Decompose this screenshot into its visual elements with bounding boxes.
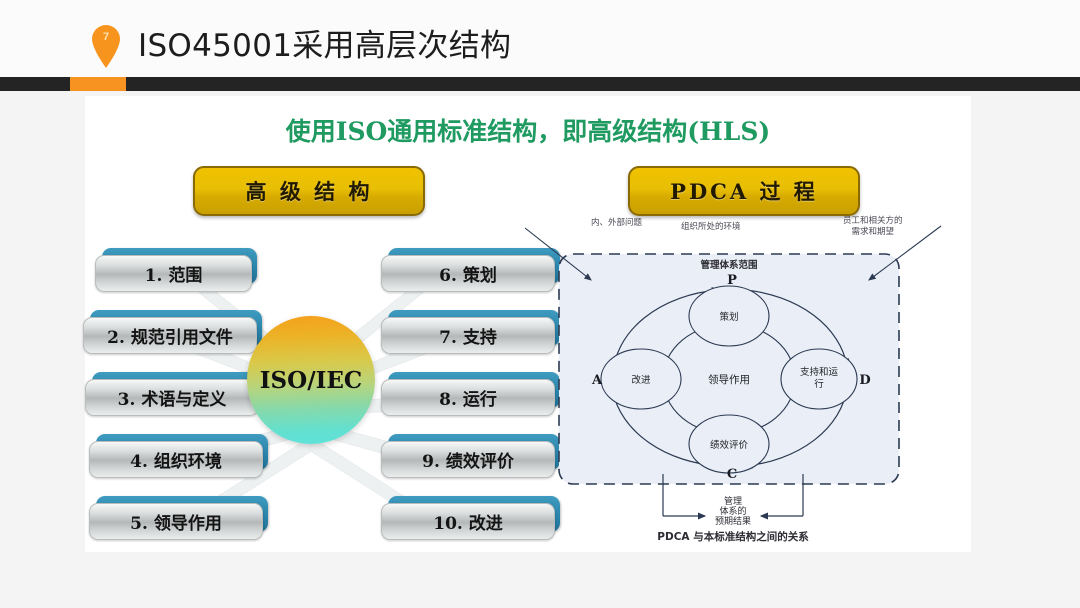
node-do-text-2: 行 — [814, 378, 824, 390]
clause-box-3[interactable]: 3. 术语与定义 — [85, 372, 265, 414]
banner-pdca-label: PDCA 过 程 — [670, 176, 818, 206]
slide-number-label: 7 — [88, 31, 124, 43]
letter-p-text: P — [727, 273, 737, 288]
clause-label: 7. 支持 — [439, 323, 497, 348]
annotation-worker-expectations: 员工和相关方的 需求和期望 — [843, 216, 903, 237]
annotation-organization-context: 组织所处的环境 — [681, 222, 741, 233]
clause-label: 6. 策划 — [439, 261, 497, 286]
banner-hls-label: 高 级 结 构 — [246, 176, 373, 206]
clause-box-front: 2. 规范引用文件 — [83, 317, 257, 354]
header-dark-bar — [0, 77, 1080, 91]
clause-box-1[interactable]: 1. 范围 — [95, 248, 255, 290]
outcome-line3-text: 预期结果 — [715, 515, 751, 527]
outcome-line2-text: 体系的 — [719, 505, 746, 517]
pdca-caption: PDCA 与本标准结构之间的关系 — [513, 529, 953, 544]
clause-box-front: 3. 术语与定义 — [85, 379, 259, 416]
content-panel: 使用ISO通用标准结构，即高级结构(HLS) 高 级 结 构 PDCA 过 程 — [85, 96, 971, 552]
node-act-text: 改进 — [631, 374, 651, 386]
annotation-worker-line2: 需求和期望 — [843, 227, 903, 238]
clause-box-front: 4. 组织环境 — [89, 441, 263, 478]
clause-box-5[interactable]: 5. 领导作用 — [89, 496, 269, 538]
iso-iec-label: ISO/IEC — [260, 367, 362, 394]
node-plan-text: 策划 — [719, 311, 738, 323]
node-check-text: 绩效评价 — [710, 439, 749, 451]
clause-label: 4. 组织环境 — [130, 447, 222, 472]
header-orange-segment — [70, 77, 126, 91]
clause-box-4[interactable]: 4. 组织环境 — [89, 434, 269, 476]
clause-label: 3. 术语与定义 — [118, 385, 227, 410]
slide-header: 7 ISO45001采用高层次结构 — [0, 0, 1080, 77]
banner-pdca-process: PDCA 过 程 — [628, 166, 860, 216]
map-pin-icon — [88, 22, 124, 68]
clause-box-front: 1. 范围 — [95, 255, 252, 292]
annotation-internal-external-issues: 内、外部问题 — [591, 218, 642, 229]
iso-iec-hub: ISO/IEC — [247, 316, 375, 444]
slide-number-pin: 7 — [88, 22, 124, 68]
letter-c-text: C — [727, 467, 737, 482]
page-title: ISO45001采用高层次结构 — [138, 20, 511, 65]
annotation-worker-line1: 员工和相关方的 — [843, 216, 903, 227]
node-leadership-text: 领导作用 — [708, 373, 750, 386]
clause-label: 2. 规范引用文件 — [107, 323, 233, 348]
clause-box-2[interactable]: 2. 规范引用文件 — [83, 310, 263, 352]
slide-root: 7 ISO45001采用高层次结构 使用ISO通用标准结构，即高级结构(HLS)… — [0, 0, 1080, 608]
scope-label-text: 管理体系范围 — [700, 259, 757, 271]
pdca-diagram: 内、外部问题 组织所处的环境 员工和相关方的 需求和期望 管理体系范围 — [513, 216, 953, 546]
clause-label: 8. 运行 — [439, 385, 497, 410]
clause-label: 1. 范围 — [145, 261, 203, 286]
letter-a-text: A — [591, 373, 603, 388]
pdca-svg: 管理体系范围 策划 支持和运 行 绩效评价 改进 领导作用 — [513, 216, 953, 546]
banner-high-level-structure: 高 级 结 构 — [193, 166, 425, 216]
outcome-line1-text: 管理 — [724, 495, 742, 507]
clause-label: 9. 绩效评价 — [422, 447, 514, 472]
clause-box-front: 5. 领导作用 — [89, 503, 263, 540]
node-do-text-1: 支持和运 — [800, 366, 839, 378]
letter-d-text: D — [859, 373, 870, 388]
panel-heading: 使用ISO通用标准结构，即高级结构(HLS) — [85, 112, 971, 148]
clause-label: 5. 领导作用 — [130, 509, 222, 534]
clause-label: 10. 改进 — [433, 509, 503, 534]
